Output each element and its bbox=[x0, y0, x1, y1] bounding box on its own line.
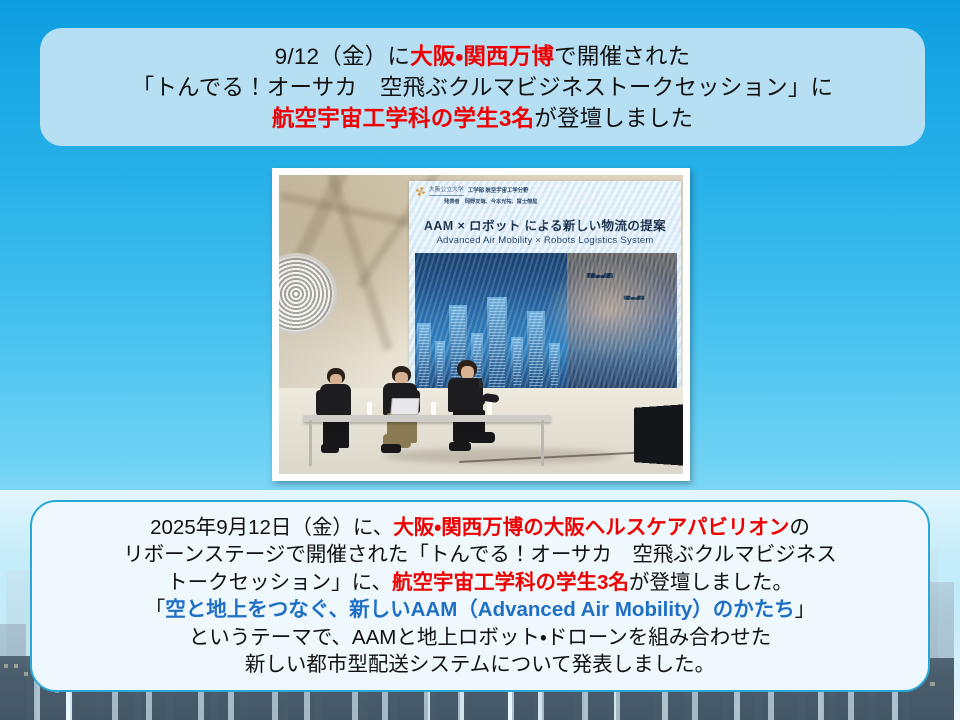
university-logo-icon bbox=[416, 187, 425, 196]
description-line-2: リボーンステージで開催された「トんでる！オーサカ 空飛ぶクルマビジネス bbox=[123, 541, 837, 569]
microphone-icon bbox=[479, 378, 482, 388]
headline-line-2: 「トんでる！オーサカ 空飛ぶクルマビジネストークセッション」に bbox=[132, 72, 833, 103]
desc-highlight-pavilion: 大阪・関西万博の大阪ヘルスケアパビリオン bbox=[393, 516, 789, 539]
headline-highlight-expo: 大阪・関西万博 bbox=[410, 44, 554, 69]
laptop-icon bbox=[390, 398, 419, 415]
desc-line1-pre: 2025年9月12日（金）に、 bbox=[150, 516, 393, 539]
slide-canvas: 9/12（金）に大阪・関西万博で開催された 「トんでる！オーサカ 空飛ぶクルマビ… bbox=[0, 0, 960, 720]
description-line-1: 2025年9月12日（金）に、大阪・関西万博の大阪ヘルスケアパビリオンの bbox=[150, 514, 810, 542]
description-line-4: 「空と地上をつなぐ、新しいAAM（Advanced Air Mobility）の… bbox=[145, 596, 816, 624]
water-bottle-icon bbox=[431, 402, 436, 415]
slide-artwork-right-panel bbox=[567, 253, 677, 389]
desc-line4-open: 「 bbox=[145, 598, 166, 621]
venue-fan-icon bbox=[279, 253, 337, 335]
water-bottle-icon bbox=[367, 402, 372, 415]
description-line-5: というテーマで、AAMと地上ロボット・ドローンを組み合わせた bbox=[189, 624, 772, 652]
description-line-3: トークセッション」に、航空宇宙工学科の学生3名が登壇しました。 bbox=[167, 569, 793, 597]
table-leg bbox=[541, 420, 544, 466]
headline-line1-pre: 9/12（金）に bbox=[275, 44, 410, 69]
desc-highlight-students: 航空宇宙工学科の学生3名 bbox=[392, 571, 629, 594]
slide-logo-row: 大阪公立大学 工学部 航空宇宙工学分野 bbox=[416, 187, 674, 196]
drone-icon bbox=[587, 275, 613, 278]
speaker-person-3 bbox=[443, 360, 505, 460]
desc-line4-close: 」 bbox=[795, 598, 816, 621]
description-card: 2025年9月12日（金）に、大阪・関西万博の大阪ヘルスケアパビリオンの リボー… bbox=[30, 500, 930, 692]
slide-title-japanese: AAM × ロボット による新しい物流の提案 bbox=[409, 215, 681, 234]
headline-line-1: 9/12（金）に大阪・関西万博で開催された bbox=[275, 41, 691, 72]
description-line-6: 新しい都市型配送システムについて発表しました。 bbox=[245, 651, 715, 679]
stage-speaker-box bbox=[634, 404, 683, 466]
desc-line1-post: の bbox=[789, 516, 810, 539]
desc-theme-title: 空と地上をつなぐ、新しいAAM（Advanced Air Mobility）のか… bbox=[165, 598, 795, 621]
stage-table bbox=[303, 415, 551, 422]
drone-icon bbox=[624, 297, 645, 299]
water-bottle-icon bbox=[487, 402, 492, 415]
table-leg bbox=[309, 420, 312, 466]
event-photo-frame: 大阪公立大学 工学部 航空宇宙工学分野 発表者 岡野友哉、今本光祐、冨士僚星 A… bbox=[272, 168, 690, 481]
speaker-person-1 bbox=[315, 368, 363, 460]
slide-authors: 発表者 岡野友哉、今本光祐、冨士僚星 bbox=[444, 198, 674, 205]
headline-line1-post: で開催された bbox=[554, 44, 690, 69]
desc-line3-pre: トークセッション」に、 bbox=[167, 571, 392, 594]
headline-line3-post: が登壇しました bbox=[534, 106, 693, 131]
headline-highlight-students: 航空宇宙工学科の学生3名 bbox=[272, 106, 534, 131]
headline-line-3: 航空宇宙工学科の学生3名が登壇しました bbox=[272, 103, 693, 134]
event-photo: 大阪公立大学 工学部 航空宇宙工学分野 発表者 岡野友哉、今本光祐、冨士僚星 A… bbox=[279, 175, 683, 474]
slide-university-name: 大阪公立大学 bbox=[429, 187, 464, 196]
desc-line3-post: が登壇しました。 bbox=[629, 571, 793, 594]
slide-title-english: Advanced Air Mobility × Robots Logistics… bbox=[409, 235, 681, 246]
headline-card: 9/12（金）に大阪・関西万博で開催された 「トんでる！オーサカ 空飛ぶクルマビ… bbox=[40, 28, 925, 146]
slide-department-name: 工学部 航空宇宙工学分野 bbox=[468, 188, 529, 195]
slide-header: 大阪公立大学 工学部 航空宇宙工学分野 発表者 岡野友哉、今本光祐、冨士僚星 bbox=[409, 181, 681, 205]
